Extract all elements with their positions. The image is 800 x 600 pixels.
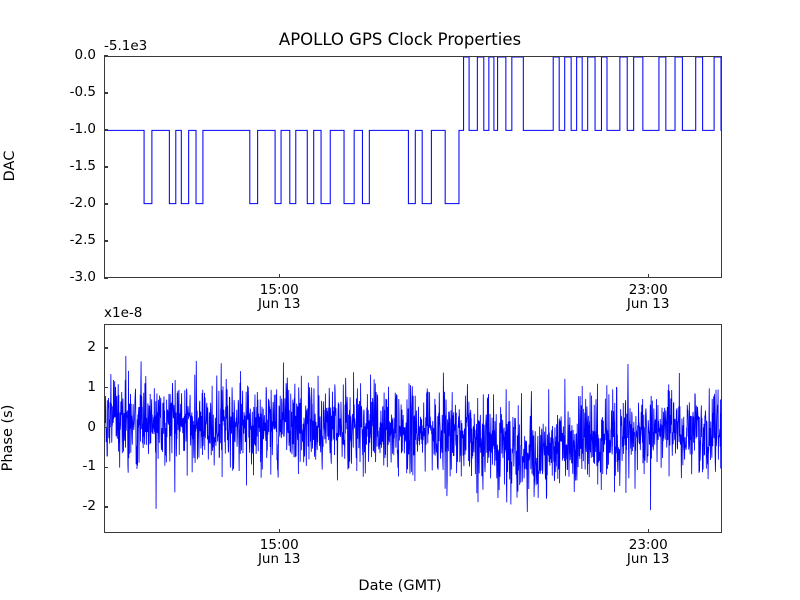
dac-y-tick-label: -2.5 [44,232,96,248]
dac-y-tick [104,166,108,167]
dac-y-tick [104,203,108,204]
dac-y-axis-label: DAC [2,131,18,201]
phase-plot-area [104,324,722,533]
phase-series-line [105,325,721,532]
dac-x-tick-label: 23:00Jun 13 [596,283,700,312]
dac-x-tick [279,274,280,278]
phase-y-tick-label: 1 [44,379,96,395]
phase-y-tick [104,387,108,388]
phase-y-tick [104,427,108,428]
dac-y-tick [104,129,108,130]
dac-y-tick-label: -2.0 [44,195,96,211]
phase-x-tick [279,529,280,533]
phase-y-tick-label: 0 [44,419,96,435]
dac-y-tick-label: -3.0 [44,269,96,285]
phase-y-tick-label: -1 [44,458,96,474]
figure-canvas: APOLLO GPS Clock Properties -5.1e3 DAC x… [0,0,800,600]
dac-x-tick-label: 15:00Jun 13 [227,283,331,312]
phase-y-tick [104,467,108,468]
dac-y-tick-label: -1.5 [44,158,96,174]
dac-y-tick-label: -0.5 [44,84,96,100]
phase-y-tick [104,506,108,507]
phase-x-tick [648,529,649,533]
dac-plot-area [104,56,722,278]
dac-y-tick [104,277,108,278]
phase-y-tick [104,347,108,348]
dac-y-tick-label: 0.0 [44,47,96,63]
dac-y-tick-label: -1.0 [44,121,96,137]
dac-y-tick [104,240,108,241]
phase-y-multiplier-label: x1e-8 [104,305,142,321]
dac-y-offset-label: -5.1e3 [104,38,147,54]
dac-y-tick [104,55,108,56]
phase-y-axis-label: Phase (s) [0,378,16,498]
phase-y-tick-label: -2 [44,498,96,514]
phase-y-tick-label: 2 [44,339,96,355]
dac-series-line [105,57,721,277]
dac-x-tick [648,274,649,278]
phase-x-axis-label: Date (GMT) [0,578,800,594]
phase-x-tick-label: 23:00Jun 13 [596,538,700,567]
dac-y-tick [104,92,108,93]
phase-x-tick-label: 15:00Jun 13 [227,538,331,567]
